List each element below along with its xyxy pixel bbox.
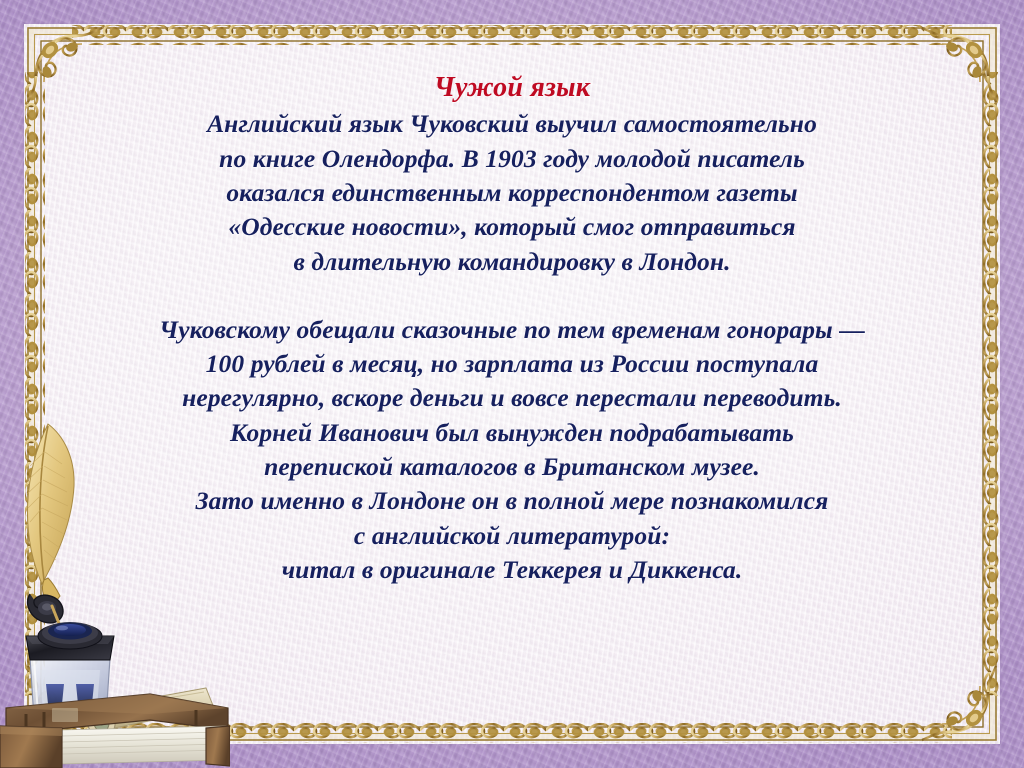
paragraph-2: Чуковскому обещали сказочные по тем врем…	[60, 313, 964, 587]
presentation-slide: Чужой язык Английский язык Чуковский выу…	[0, 0, 1024, 768]
paragraph-2-line-4: Корней Иванович был вынужден подрабатыва…	[60, 416, 964, 450]
paragraph-1-line-2: по книге Олендорфа. В 1903 году молодой …	[60, 142, 964, 176]
paragraph-1-line-3: оказался единственным корреспондентом га…	[60, 176, 964, 210]
slide-content: Чужой язык Английский язык Чуковский выу…	[60, 72, 964, 587]
paragraph-2-line-3: нерегулярно, вскоре деньги и вовсе перес…	[60, 381, 964, 415]
paragraph-2-line-7: с английской литературой:	[60, 519, 964, 553]
paragraph-2-line-1: Чуковскому обещали сказочные по тем врем…	[60, 313, 964, 347]
paragraph-spacer	[60, 279, 964, 313]
paragraph-2-line-5: перепиской каталогов в Британском музее.	[60, 450, 964, 484]
page-title: Чужой язык	[60, 72, 964, 103]
paragraph-2-line-2: 100 рублей в месяц, но зарплата из Росси…	[60, 347, 964, 381]
paragraph-2-line-8: читал в оригинале Теккерея и Диккенса.	[60, 553, 964, 587]
paragraph-1-line-1: Английский язык Чуковский выучил самосто…	[60, 107, 964, 141]
paragraph-2-line-6: Зато именно в Лондоне он в полной мере п…	[60, 484, 964, 518]
paragraph-1-line-5: в длительную командировку в Лондон.	[60, 245, 964, 279]
paragraph-1: Английский язык Чуковский выучил самосто…	[60, 107, 964, 278]
paragraph-1-line-4: «Одесские новости», который смог отправи…	[60, 210, 964, 244]
